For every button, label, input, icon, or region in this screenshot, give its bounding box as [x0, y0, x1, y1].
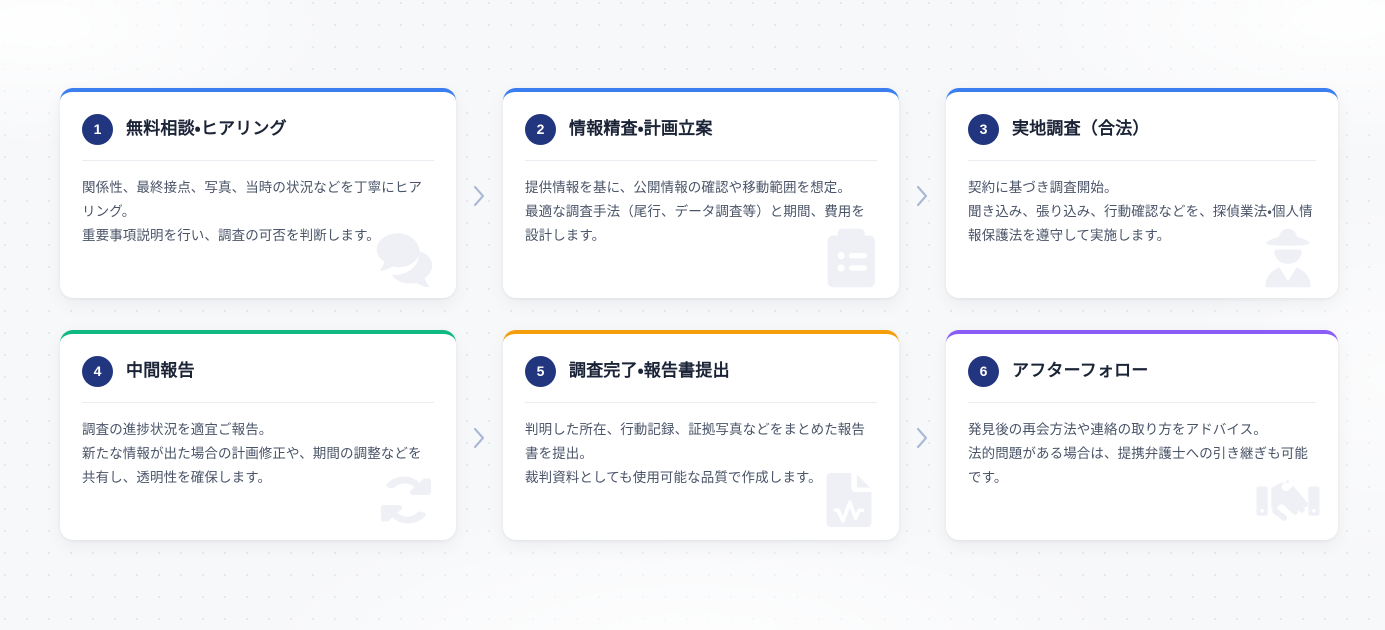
investigation-flow-section: 1 無料相談・ヒアリング 関係性、最終接点、写真、当時の状況などを丁寧にヒアリン… [0, 0, 1385, 630]
step-number-badge-4: 4 [82, 356, 113, 387]
step-description-4: 調査の進捗状況を適宜ご報告。新たな情報が出た場合の計画修正や、期間の調整などを共… [82, 418, 434, 490]
step-description-6: 発見後の再会方法や連絡の取り方をアドバイス。法的問題がある場合は、提携弁護士への… [968, 418, 1316, 490]
step-description-1: 関係性、最終接点、写真、当時の状況などを丁寧にヒアリング。重要事項説明を行い、調… [82, 176, 434, 248]
step-card-2[interactable]: 2 情報精査・計画立案 提供情報を基に、公開情報の確認や移動範囲を想定。最適な調… [503, 88, 899, 298]
step-card-6-header: 6 アフターフォロー [968, 354, 1316, 388]
step-title-2: 情報精査・計画立案 [569, 119, 713, 139]
step-card-2-divider [525, 160, 877, 161]
step-card-6[interactable]: 6 アフターフォロー 発見後の再会方法や連絡の取り方をアドバイス。法的問題がある… [946, 330, 1338, 540]
step-card-4-divider [82, 402, 434, 403]
step-card-1-header: 1 無料相談・ヒアリング [82, 112, 434, 146]
step-card-3-header: 3 実地調査（合法） [968, 112, 1316, 146]
step-card-1[interactable]: 1 無料相談・ヒアリング 関係性、最終接点、写真、当時の状況などを丁寧にヒアリン… [60, 88, 456, 298]
flow-arrow-2-to-3 [903, 176, 943, 216]
step-title-3: 実地調査（合法） [1012, 119, 1150, 139]
step-description-5: 判明した所在、行動記録、証拠写真などをまとめた報告書を提出。裁判資料としても使用… [525, 418, 877, 490]
step-title-5: 調査完了・報告書提出 [569, 361, 730, 381]
step-title-4: 中間報告 [126, 361, 195, 381]
step-number-badge-5: 5 [525, 356, 556, 387]
flow-arrow-4-to-5 [460, 418, 500, 458]
step-card-5[interactable]: 5 調査完了・報告書提出 判明した所在、行動記録、証拠写真などをまとめた報告書を… [503, 330, 899, 540]
flow-arrow-5-to-6 [903, 418, 943, 458]
step-number-badge-3: 3 [968, 114, 999, 145]
step-card-1-divider [82, 160, 434, 161]
step-description-2: 提供情報を基に、公開情報の確認や移動範囲を想定。最適な調査手法（尾行、データ調査… [525, 176, 877, 248]
step-title-6: アフターフォロー [1012, 361, 1149, 381]
step-number-badge-6: 6 [968, 356, 999, 387]
step-card-5-divider [525, 402, 877, 403]
step-card-3-divider [968, 160, 1316, 161]
flow-arrow-1-to-2 [460, 176, 500, 216]
step-card-6-divider [968, 402, 1316, 403]
step-number-badge-2: 2 [525, 114, 556, 145]
step-description-3: 契約に基づき調査開始。聞き込み、張り込み、行動確認などを、探偵業法・個人情報保護… [968, 176, 1316, 248]
step-number-badge-1: 1 [82, 114, 113, 145]
step-card-5-header: 5 調査完了・報告書提出 [525, 354, 877, 388]
chevron-right-icon [914, 424, 931, 452]
chevron-right-icon [471, 182, 488, 210]
step-card-4-header: 4 中間報告 [82, 354, 434, 388]
step-card-2-header: 2 情報精査・計画立案 [525, 112, 877, 146]
step-card-4[interactable]: 4 中間報告 調査の進捗状況を適宜ご報告。新たな情報が出た場合の計画修正や、期間… [60, 330, 456, 540]
step-card-3[interactable]: 3 実地調査（合法） 契約に基づき調査開始。聞き込み、張り込み、行動確認などを、… [946, 88, 1338, 298]
step-title-1: 無料相談・ヒアリング [126, 119, 287, 139]
chevron-right-icon [914, 182, 931, 210]
chevron-right-icon [471, 424, 488, 452]
flow-card-grid: 1 無料相談・ヒアリング 関係性、最終接点、写真、当時の状況などを丁寧にヒアリン… [60, 88, 1385, 544]
